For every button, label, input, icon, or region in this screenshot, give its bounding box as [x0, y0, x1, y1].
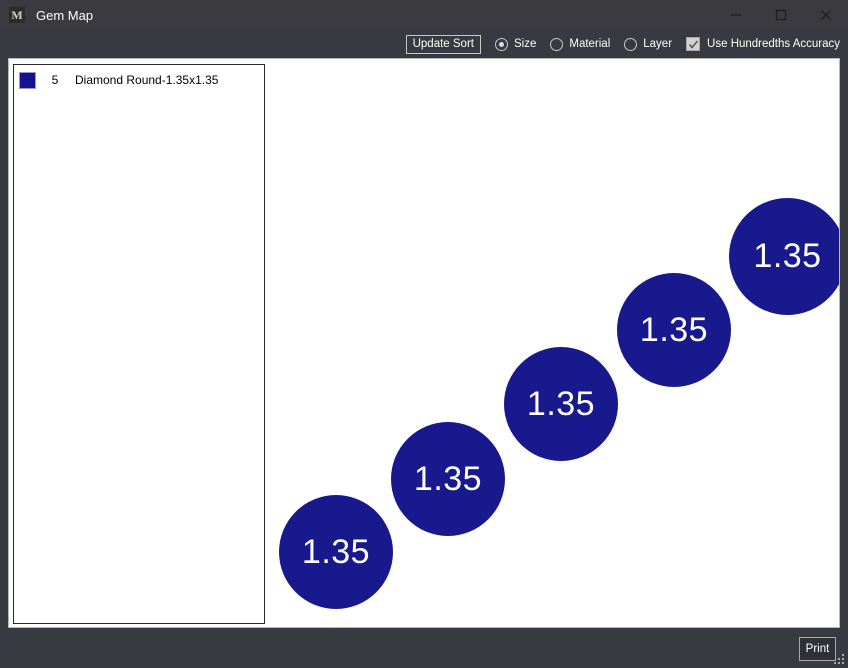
window-title: Gem Map: [36, 8, 93, 23]
gem-label: 1.35: [414, 460, 482, 499]
update-sort-button[interactable]: Update Sort: [406, 35, 481, 54]
client-area: 5 Diamond Round-1.35x1.35 1.351.351.351.…: [8, 58, 840, 628]
print-button[interactable]: Print: [799, 637, 836, 661]
use-hundredths-accuracy-label: Use Hundredths Accuracy: [707, 38, 840, 50]
list-item[interactable]: 5 Diamond Round-1.35x1.35: [14, 69, 264, 91]
radio-option-layer[interactable]: Layer: [624, 38, 672, 51]
checkbox-checked-icon: [686, 37, 700, 51]
gem-label: 1.35: [527, 385, 595, 424]
gem-circle[interactable]: 1.35: [391, 422, 505, 536]
gem-canvas[interactable]: 1.351.351.351.351.35: [269, 59, 839, 627]
gem-label: 1.35: [753, 237, 821, 276]
legend-listbox[interactable]: 5 Diamond Round-1.35x1.35: [13, 64, 265, 624]
gem-label: 1.35: [302, 533, 370, 572]
radio-size-icon: [495, 38, 508, 51]
minimize-button[interactable]: [713, 0, 758, 30]
app-icon: M: [9, 7, 25, 23]
legend-item-name: Diamond Round-1.35x1.35: [75, 73, 218, 87]
maximize-icon: [775, 9, 787, 21]
gem-circle[interactable]: 1.35: [729, 198, 839, 315]
minimize-icon: [730, 9, 742, 21]
window-controls: [713, 0, 848, 30]
maximize-button[interactable]: [758, 0, 803, 30]
gem-circle[interactable]: 1.35: [617, 273, 731, 387]
legend-color-swatch: [19, 72, 36, 89]
title-bar: M Gem Map: [0, 0, 848, 30]
gem-circle[interactable]: 1.35: [504, 347, 618, 461]
resize-grip-icon[interactable]: [833, 653, 846, 666]
bottom-bar: Print: [0, 628, 848, 668]
radio-layer-label: Layer: [643, 38, 672, 50]
close-button[interactable]: [803, 0, 848, 30]
check-icon: [688, 39, 699, 50]
radio-layer-icon: [624, 38, 637, 51]
radio-material-label: Material: [569, 38, 610, 50]
app-window: M Gem Map Update Sort: [0, 0, 848, 668]
radio-option-size[interactable]: Size: [495, 38, 536, 51]
toolbar: Update Sort Size Material Layer Use: [0, 30, 848, 58]
close-icon: [820, 9, 832, 21]
radio-option-material[interactable]: Material: [550, 38, 610, 51]
radio-material-icon: [550, 38, 563, 51]
legend-item-count: 5: [41, 73, 69, 87]
gem-circle[interactable]: 1.35: [279, 495, 393, 609]
use-hundredths-accuracy-checkbox[interactable]: Use Hundredths Accuracy: [686, 37, 840, 51]
gem-label: 1.35: [640, 311, 708, 350]
radio-size-label: Size: [514, 38, 536, 50]
